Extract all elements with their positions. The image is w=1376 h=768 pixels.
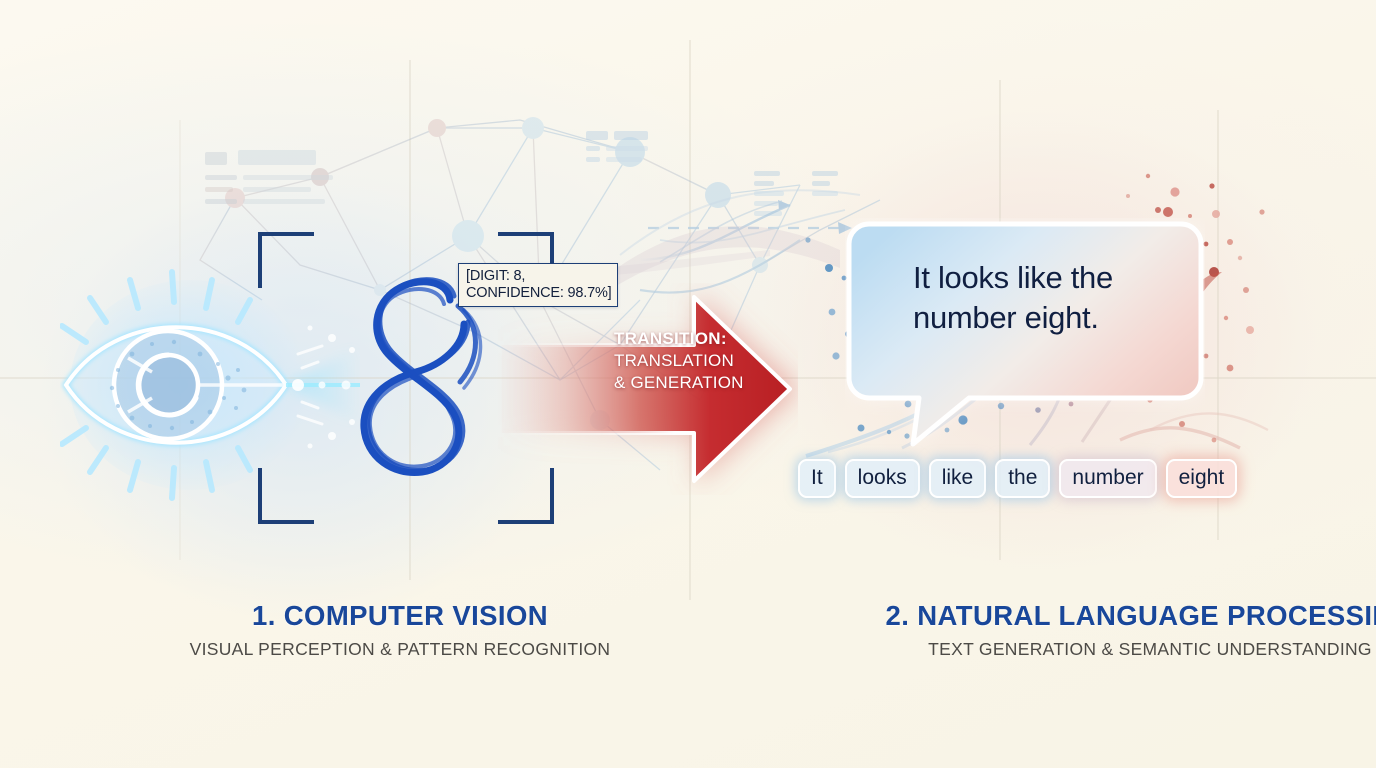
bubble-line-1: It looks like the (913, 258, 1163, 298)
frame-corner-top-left (258, 232, 314, 288)
transition-line-3: & GENERATION (614, 372, 774, 394)
transition-arrow-label: TRANSITION: TRANSLATION & GENERATION (614, 328, 774, 394)
token-eight[interactable]: eight (1166, 459, 1238, 498)
token-it[interactable]: It (798, 459, 836, 498)
bubble-line-2: number eight. (913, 298, 1163, 338)
token-the[interactable]: the (995, 459, 1050, 498)
token-list: It looks like the number eight (798, 459, 1237, 498)
doc-placeholder-right (586, 131, 648, 162)
caption-left-title: 1. COMPUTER VISION (150, 600, 650, 632)
caption-right-title: 2. NATURAL LANGUAGE PROCESSING (760, 600, 1376, 632)
infographic-canvas: [DIGIT: 8, CONFIDENCE: 98.7%] (0, 0, 1376, 768)
flow-curves (600, 190, 860, 292)
doc-placeholder-flow-a (754, 171, 784, 216)
token-looks[interactable]: looks (845, 459, 920, 498)
caption-computer-vision: 1. COMPUTER VISION VISUAL PERCEPTION & P… (150, 600, 650, 660)
doc-placeholder-flow-b (812, 171, 838, 196)
token-number[interactable]: number (1059, 459, 1156, 498)
transition-line-2: TRANSLATION (614, 350, 774, 372)
doc-placeholder-left (205, 150, 333, 204)
transition-line-1: TRANSITION: (614, 328, 774, 350)
caption-nlp: 2. NATURAL LANGUAGE PROCESSING TEXT GENE… (760, 600, 1376, 660)
token-like[interactable]: like (929, 459, 987, 498)
speech-bubble-group: It looks like the number eight. (845, 218, 1205, 448)
caption-right-subtitle: TEXT GENERATION & SEMANTIC UNDERSTANDING (760, 639, 1376, 660)
speech-bubble-text: It looks like the number eight. (913, 258, 1163, 338)
caption-left-subtitle: VISUAL PERCEPTION & PATTERN RECOGNITION (150, 639, 650, 660)
frame-corner-bottom-left (258, 468, 314, 524)
transition-arrow-group: TRANSITION: TRANSLATION & GENERATION (498, 283, 798, 495)
